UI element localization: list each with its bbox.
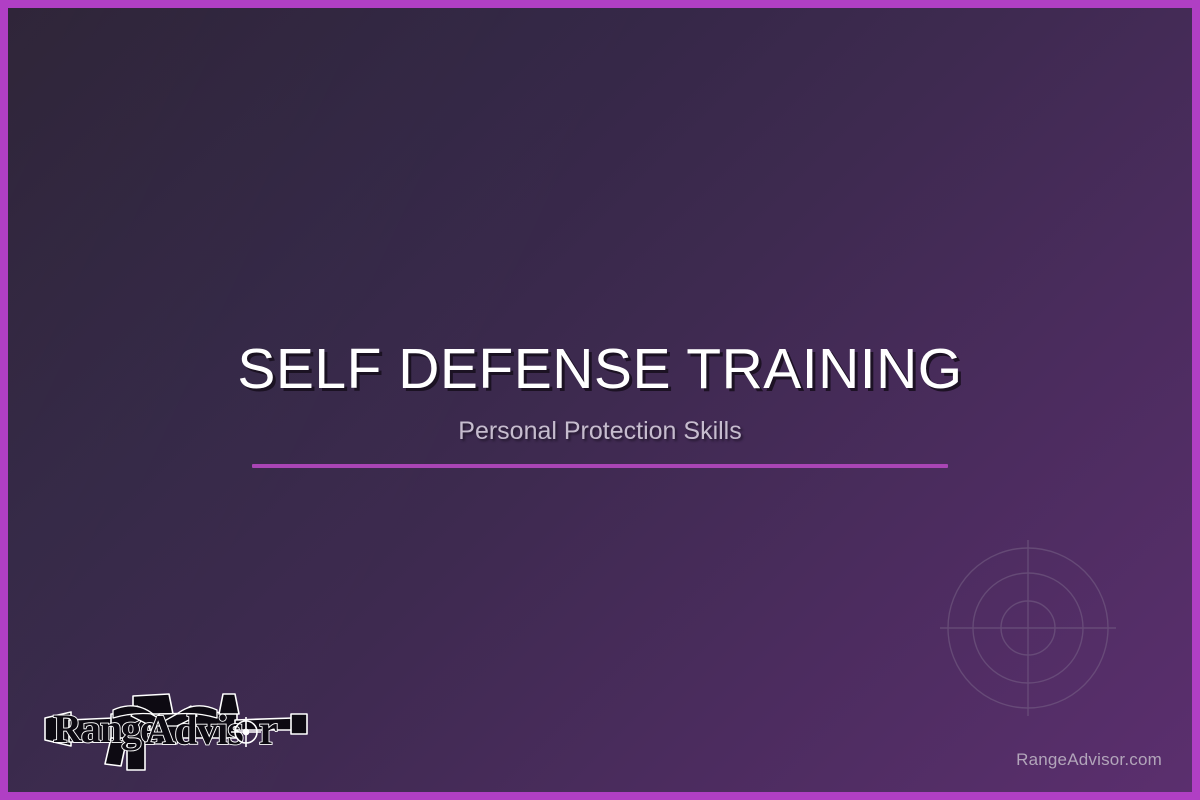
svg-text:Advis: Advis [145, 708, 243, 754]
svg-text:r: r [259, 708, 278, 754]
footer-url: RangeAdvisor.com [1016, 750, 1162, 770]
page-title: SELF DEFENSE TRAINING [8, 338, 1192, 402]
svg-text:Range: Range [53, 706, 157, 751]
page-subtitle: Personal Protection Skills [8, 416, 1192, 446]
title-divider [252, 464, 948, 468]
presentation-slide: SELF DEFENSE TRAINING Personal Protectio… [0, 0, 1200, 800]
slide-title-block: SELF DEFENSE TRAINING Personal Protectio… [8, 338, 1192, 468]
rangeadvisor-logo: Range Advis r [41, 680, 313, 776]
logo-wordmark: Range Advis r [53, 706, 278, 754]
crosshair-target-icon [920, 520, 1136, 736]
